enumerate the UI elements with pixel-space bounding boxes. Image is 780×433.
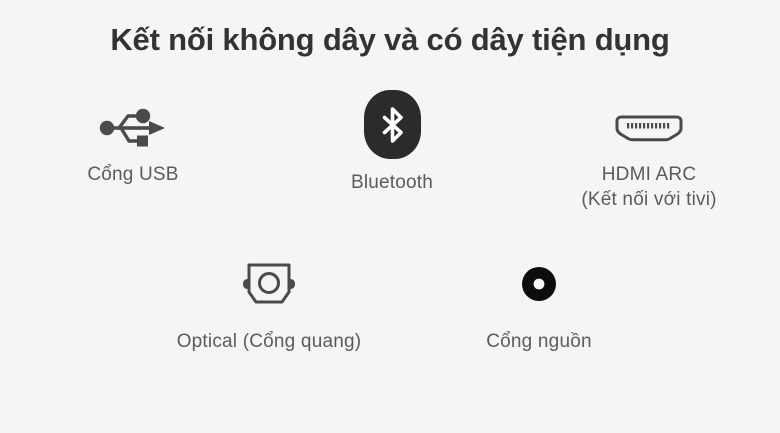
power-port-icon: [521, 266, 557, 302]
hdmi-port-icon: [613, 114, 685, 142]
feature-label-hdmi: HDMI ARC (Kết nối với tivi): [549, 162, 749, 212]
bluetooth-icon: [364, 90, 421, 159]
hdmi-icon-container: [549, 100, 749, 156]
feature-optical: Optical (Cổng quang): [169, 255, 369, 354]
optical-port-icon: [240, 261, 298, 307]
feature-label-hdmi-main: HDMI ARC: [602, 164, 697, 185]
feature-bluetooth: Bluetooth: [292, 84, 492, 195]
feature-power: Cổng nguồn: [439, 255, 639, 354]
feature-label-usb: Cổng USB: [33, 162, 233, 187]
feature-usb: Cổng USB: [33, 100, 233, 187]
power-icon-container: [439, 255, 639, 313]
optical-icon-container: [169, 255, 369, 313]
feature-label-power: Cổng nguồn: [439, 329, 639, 354]
feature-sublabel-hdmi: (Kết nối với tivi): [549, 187, 749, 212]
feature-label-optical: Optical (Cổng quang): [169, 329, 369, 354]
connectivity-infographic: Kết nối không dây và có dây tiện dụng: [0, 0, 780, 433]
page-title: Kết nối không dây và có dây tiện dụng: [0, 20, 780, 60]
feature-hdmi-arc: HDMI ARC (Kết nối với tivi): [549, 100, 749, 212]
feature-label-bluetooth: Bluetooth: [292, 170, 492, 195]
usb-icon: [95, 108, 171, 148]
usb-icon-container: [33, 100, 233, 156]
bluetooth-icon-container: [292, 84, 492, 164]
